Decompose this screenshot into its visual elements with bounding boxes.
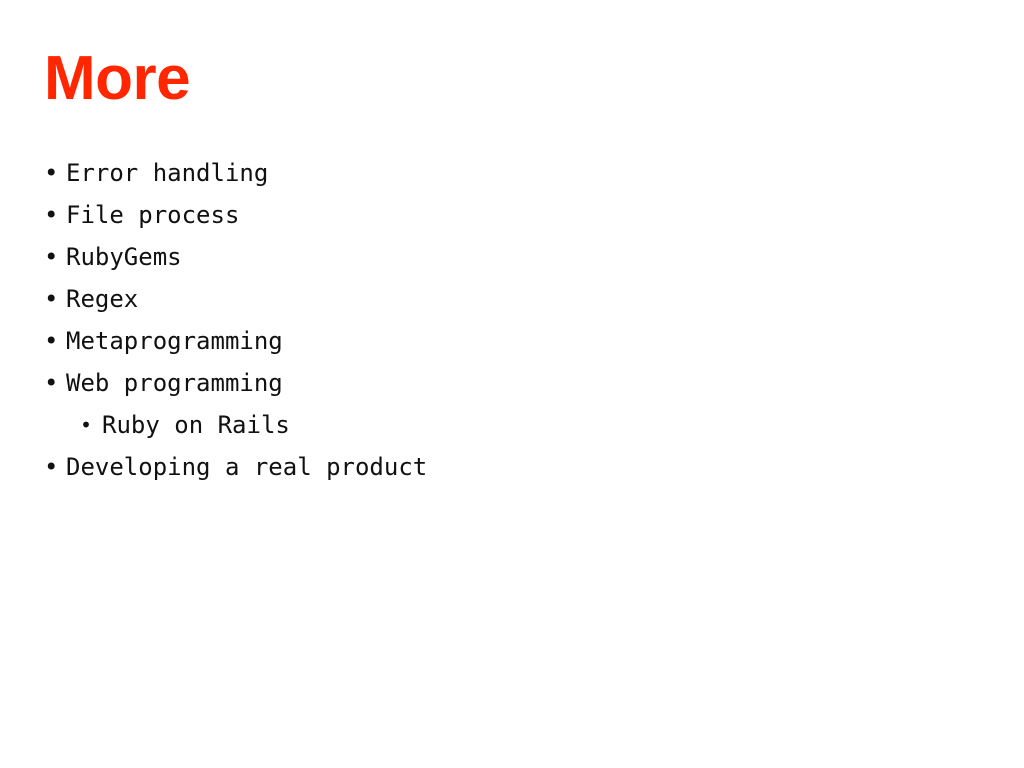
list-item-label: Developing a real product — [66, 446, 427, 488]
page-title: More — [44, 46, 190, 113]
bullet-icon: • — [44, 194, 66, 236]
list-item[interactable]: •Metaprogramming — [44, 320, 984, 362]
bullet-icon: • — [44, 236, 66, 278]
list-item-label: Regex — [66, 278, 138, 320]
bullet-icon: • — [80, 404, 102, 446]
bullet-icon: • — [44, 446, 66, 488]
list-item-label: File process — [66, 194, 239, 236]
list-item-label: Ruby on Rails — [102, 404, 290, 446]
list-item-label: RubyGems — [66, 236, 182, 278]
list-item[interactable]: •Error handling — [44, 152, 984, 194]
bullet-icon: • — [44, 362, 66, 404]
list-item-label: Error handling — [66, 152, 268, 194]
list-item[interactable]: •RubyGems — [44, 236, 984, 278]
list-item-label: Metaprogramming — [66, 320, 283, 362]
slide-canvas: More •Error handling •File process •Ruby… — [0, 0, 1024, 768]
bullet-list: •Error handling •File process •RubyGems … — [44, 152, 984, 488]
bullet-icon: • — [44, 320, 66, 362]
list-item-label: Web programming — [66, 362, 283, 404]
list-item[interactable]: •Web programming — [44, 362, 984, 404]
list-item-nested[interactable]: •Ruby on Rails — [44, 404, 984, 446]
bullet-icon: • — [44, 278, 66, 320]
list-item[interactable]: •Regex — [44, 278, 984, 320]
bullet-icon: • — [44, 152, 66, 194]
list-item[interactable]: •Developing a real product — [44, 446, 984, 488]
list-item[interactable]: •File process — [44, 194, 984, 236]
